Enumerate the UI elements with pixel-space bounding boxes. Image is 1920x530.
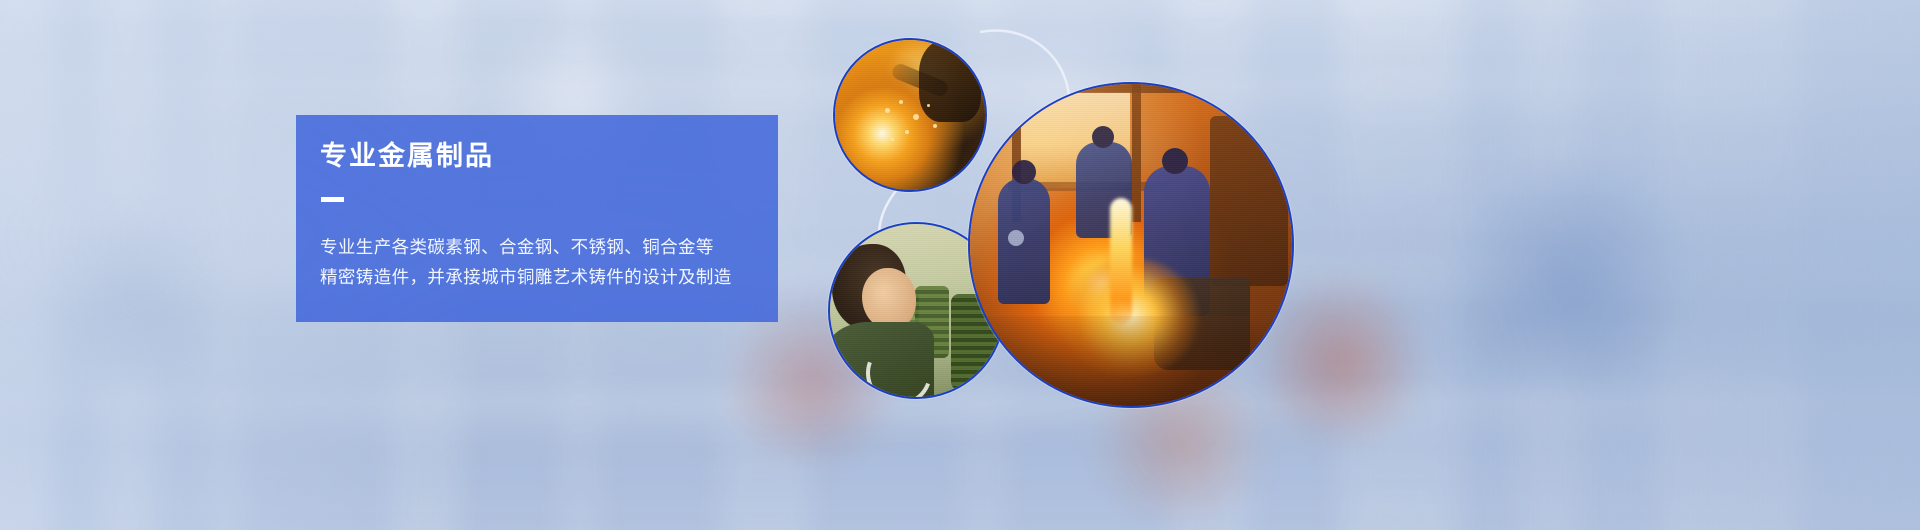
page-title: 专业金属制品 — [320, 143, 494, 170]
foundry-photo-image — [968, 82, 1294, 408]
title-divider — [321, 197, 344, 202]
foundry-photo-grain — [968, 82, 1294, 408]
welding-photo — [833, 38, 987, 192]
hero-description-line-2: 精密铸造件，并承接城市铜雕艺术铸件的设计及制造 — [320, 262, 766, 292]
welding-photo-image — [833, 38, 987, 192]
foundry-photo — [968, 82, 1294, 408]
hero-banner: 专业金属制品 专业生产各类碳素钢、合金钢、不锈钢、铜合金等 精密铸造件，并承接城… — [0, 0, 1920, 530]
hero-description: 专业生产各类碳素钢、合金钢、不锈钢、铜合金等 精密铸造件，并承接城市铜雕艺术铸件… — [320, 232, 766, 292]
welding-photo-grain — [833, 38, 987, 192]
hero-text-panel: 专业金属制品 专业生产各类碳素钢、合金钢、不锈钢、铜合金等 精密铸造件，并承接城… — [296, 115, 778, 322]
hero-description-line-1: 专业生产各类碳素钢、合金钢、不锈钢、铜合金等 — [320, 232, 766, 262]
